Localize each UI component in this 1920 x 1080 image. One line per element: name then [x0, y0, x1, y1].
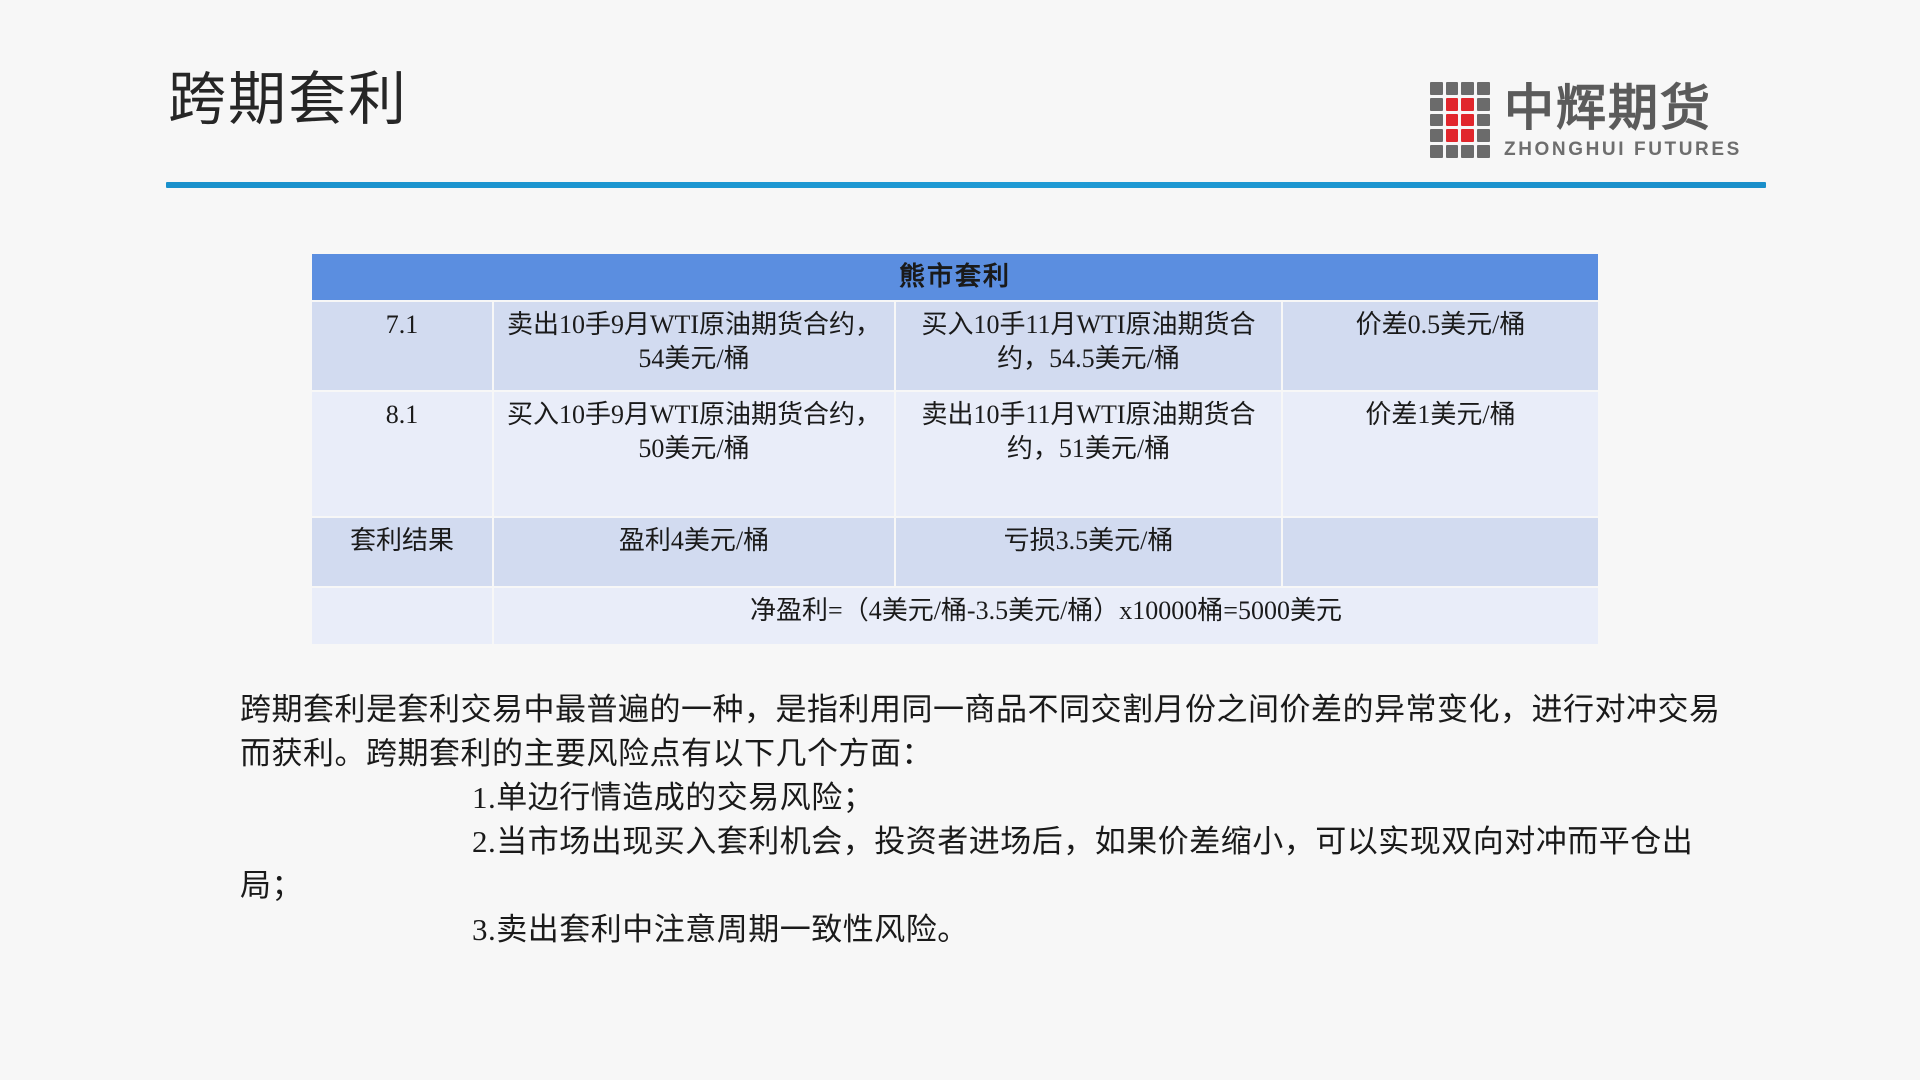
cell-spread-empty — [1283, 518, 1598, 586]
slide-root: 跨期套利 中辉期货 ZHONGHUI FUTURES 熊市套利 — [0, 0, 1920, 1080]
title-divider — [166, 182, 1766, 188]
cell-leg-b: 买入10手11月WTI原油期货合约，54.5美元/桶 — [896, 302, 1281, 390]
cell-result-loss: 亏损3.5美元/桶 — [896, 518, 1281, 586]
table-row: 8.1 买入10手9月WTI原油期货合约，50美元/桶 卖出10手11月WTI原… — [312, 392, 1598, 516]
risk-point-3-text: 3.卖出套利中注意周期一致性风险。 — [472, 912, 969, 947]
cell-leg-b: 卖出10手11月WTI原油期货合约，51美元/桶 — [896, 392, 1281, 516]
cell-date: 7.1 — [312, 302, 492, 390]
cell-spread: 价差1美元/桶 — [1283, 392, 1598, 516]
risk-point-1: 1.单边行情造成的交易风险； — [240, 776, 1730, 820]
table-header-row: 熊市套利 — [312, 254, 1598, 300]
cell-net-profit-value: 净盈利=（4美元/桶-3.5美元/桶）x10000桶=5000美元 — [494, 588, 1598, 644]
cell-result-label: 套利结果 — [312, 518, 492, 586]
arbitrage-table-container: 熊市套利 7.1 卖出10手9月WTI原油期货合约，54美元/桶 买入10手11… — [310, 252, 1590, 646]
cell-date: 8.1 — [312, 392, 492, 516]
body-text-block: 跨期套利是套利交易中最普遍的一种，是指利用同一商品不同交割月份之间价差的异常变化… — [240, 688, 1730, 952]
logo-english-name: ZHONGHUI FUTURES — [1504, 139, 1742, 162]
table-row-net-profit: 净盈利=（4美元/桶-3.5美元/桶）x10000桶=5000美元 — [312, 588, 1598, 644]
slide-header: 跨期套利 中辉期货 ZHONGHUI FUTURES — [0, 0, 1920, 200]
cell-spread: 价差0.5美元/桶 — [1283, 302, 1598, 390]
logo-text-block: 中辉期货 ZHONGHUI FUTURES — [1504, 82, 1742, 161]
cell-leg-a: 买入10手9月WTI原油期货合约，50美元/桶 — [494, 392, 894, 516]
risk-point-3: 3.卖出套利中注意周期一致性风险。 — [240, 908, 1730, 952]
risk-point-2: 2.当市场出现买入套利机会，投资者进场后，如果价差缩小，可以实现双向对冲而平仓出… — [240, 820, 1730, 908]
risk-point-1-text: 1.单边行情造成的交易风险； — [472, 780, 874, 815]
table-title-cell: 熊市套利 — [312, 254, 1598, 300]
arbitrage-table: 熊市套利 7.1 卖出10手9月WTI原油期货合约，54美元/桶 买入10手11… — [310, 252, 1600, 646]
cell-leg-a: 卖出10手9月WTI原油期货合约，54美元/桶 — [494, 302, 894, 390]
intro-paragraph: 跨期套利是套利交易中最普遍的一种，是指利用同一商品不同交割月份之间价差的异常变化… — [240, 688, 1730, 776]
logo-grid-icon — [1414, 82, 1490, 158]
page-title: 跨期套利 — [168, 68, 408, 132]
logo-chinese-name: 中辉期货 — [1504, 82, 1742, 135]
cell-result-profit: 盈利4美元/桶 — [494, 518, 894, 586]
cell-net-profit-label — [312, 588, 492, 644]
table-row: 套利结果 盈利4美元/桶 亏损3.5美元/桶 — [312, 518, 1598, 586]
table-row: 7.1 卖出10手9月WTI原油期货合约，54美元/桶 买入10手11月WTI原… — [312, 302, 1598, 390]
company-logo: 中辉期货 ZHONGHUI FUTURES — [1414, 82, 1742, 164]
risk-point-2-text: 2.当市场出现买入套利机会，投资者进场后，如果价差缩小，可以实现双向对冲而平仓出… — [240, 824, 1693, 903]
